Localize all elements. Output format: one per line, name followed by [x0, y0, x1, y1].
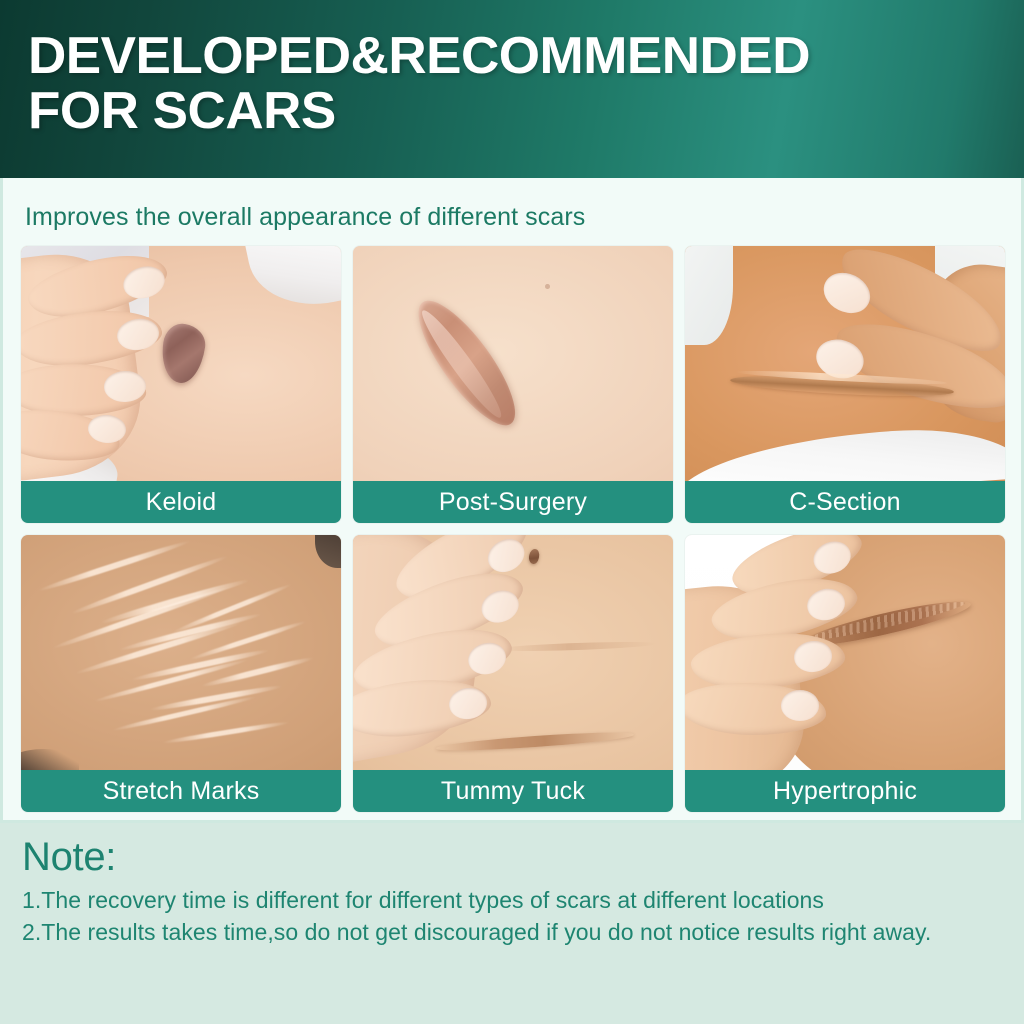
skin-mole: [545, 284, 550, 290]
background-left: [685, 246, 733, 345]
dark-edge: [21, 749, 79, 770]
header-title: DEVELOPED&RECOMMENDED FOR SCARS: [28, 29, 1015, 139]
note-line-2: 2.The results takes time,so do not get d…: [22, 917, 1002, 949]
fingernail: [104, 370, 147, 402]
scar-tile-stretch-marks[interactable]: Stretch Marks: [21, 535, 341, 812]
scar-tile-hypertrophic[interactable]: Hypertrophic: [685, 535, 1005, 812]
tile-label-c-section: C-Section: [685, 481, 1005, 523]
white-garment: [685, 422, 1005, 481]
header-banner: DEVELOPED&RECOMMENDED FOR SCARS: [0, 0, 1024, 178]
photo-stretch-marks: [21, 535, 341, 770]
note-line-1: 1.The recovery time is different for dif…: [22, 885, 1002, 917]
photo-c-section: [685, 246, 1005, 481]
photo-hypertrophic: [685, 535, 1005, 770]
cloth-top-right: [244, 246, 341, 318]
fingernail: [781, 690, 819, 721]
tile-label-post-surgery: Post-Surgery: [353, 481, 673, 523]
product-infographic: DEVELOPED&RECOMMENDED FOR SCARS Improves…: [0, 0, 1024, 1024]
scar-tile-c-section[interactable]: C-Section: [685, 246, 1005, 523]
main-content: Improves the overall appearance of diffe…: [0, 178, 1024, 820]
tile-label-stretch-marks: Stretch Marks: [21, 770, 341, 812]
photo-keloid: [21, 246, 341, 481]
note-section: Note: 1.The recovery time is different f…: [0, 820, 1024, 1024]
note-title: Note:: [22, 835, 1002, 879]
photo-tummy-tuck: [353, 535, 673, 770]
tile-label-hypertrophic: Hypertrophic: [685, 770, 1005, 812]
navel: [528, 548, 541, 565]
scar-tile-tummy-tuck[interactable]: Tummy Tuck: [353, 535, 673, 812]
tile-label-keloid: Keloid: [21, 481, 341, 523]
skin-crease: [497, 640, 657, 653]
keloid-scar: [158, 321, 207, 385]
scar-tile-post-surgery[interactable]: Post-Surgery: [353, 246, 673, 523]
subtitle: Improves the overall appearance of diffe…: [21, 192, 1005, 246]
tummy-tuck-scar: [436, 729, 635, 753]
stretch-mark-field: [21, 535, 341, 770]
dark-corner: [315, 535, 341, 568]
tile-label-tummy-tuck: Tummy Tuck: [353, 770, 673, 812]
scar-tile-keloid[interactable]: Keloid: [21, 246, 341, 523]
scar-type-grid: Keloid Post-Surgery: [21, 246, 1005, 812]
photo-post-surgery: [353, 246, 673, 481]
